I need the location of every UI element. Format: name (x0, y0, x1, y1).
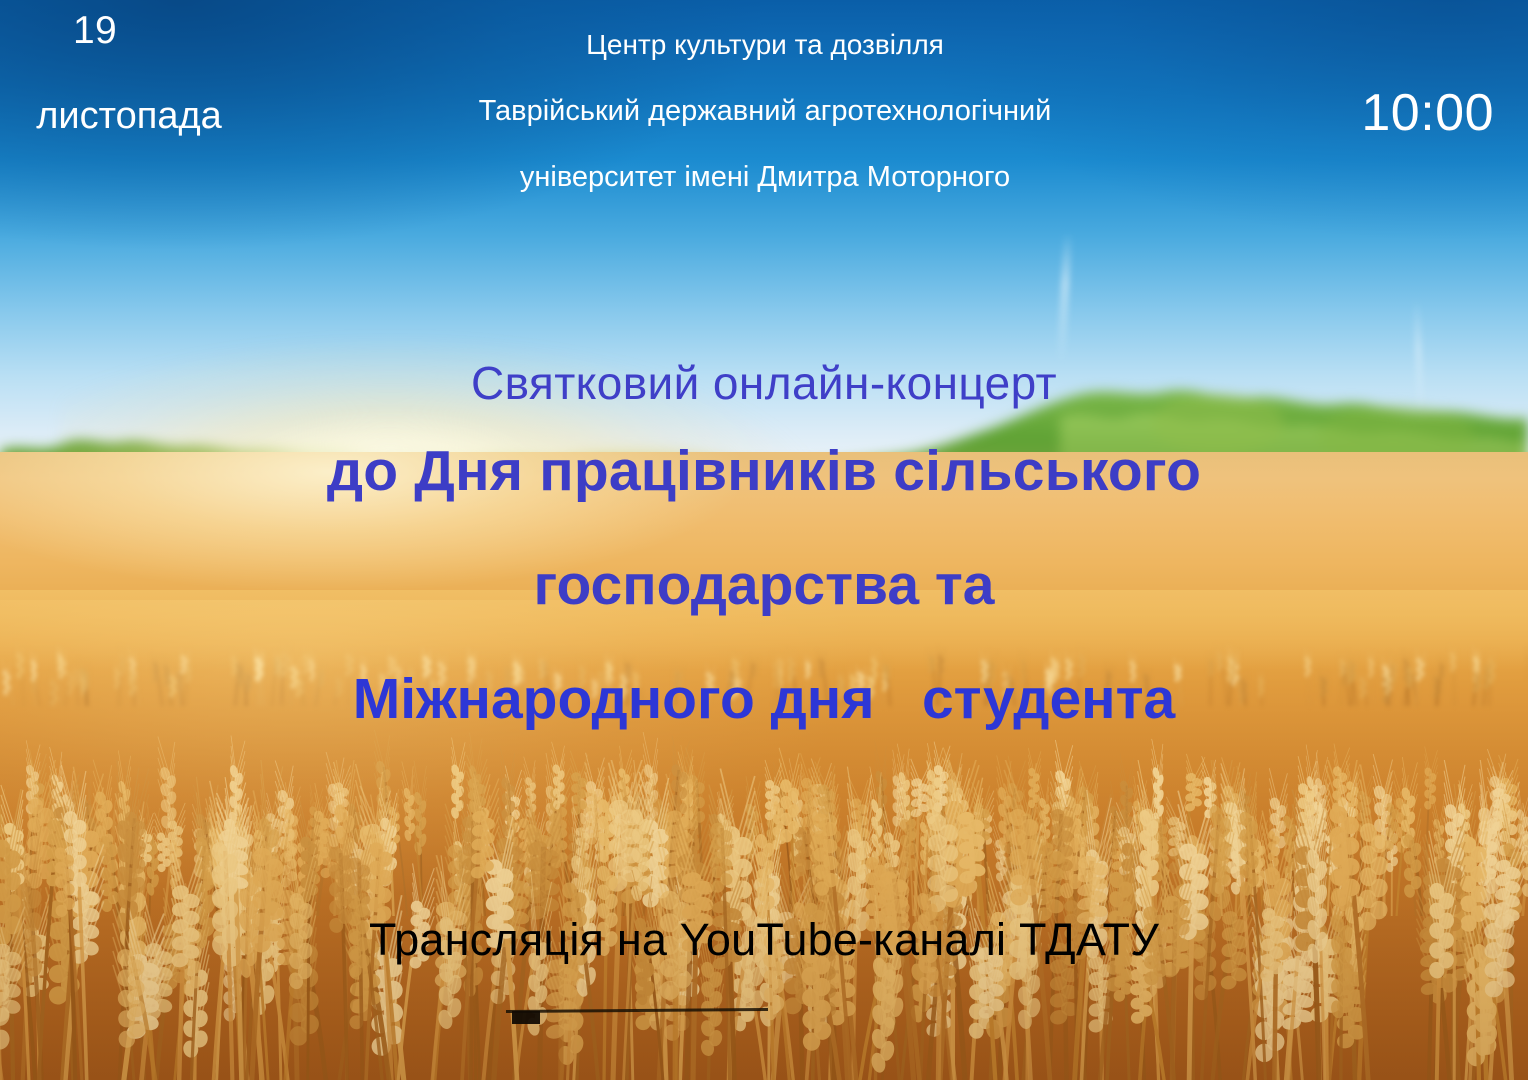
event-title-line-2: до Дня працівників сільського (0, 414, 1528, 528)
broadcast-underline-marker (512, 1011, 540, 1024)
organization-block: Центр культури та дозвілля Таврійський д… (340, 12, 1190, 210)
event-title-line-3: господарства та (0, 528, 1528, 642)
event-date-day: 19 (0, 8, 190, 54)
event-title-line-1: Святковий онлайн-концерт (0, 352, 1528, 414)
event-title-block: Святковий онлайн-концерт до Дня працівни… (0, 352, 1528, 756)
broadcast-notice: Трансляція на YouTube-каналі ТДАТУ (0, 912, 1528, 968)
event-poster: 19 листопада 10:00 Центр культури та доз… (0, 0, 1528, 1080)
event-title-line-4: Міжнародного дня студента (0, 642, 1528, 756)
organization-line-2: Таврійський державний агротехнологічний (340, 78, 1190, 144)
event-date-month: листопада (0, 93, 258, 139)
organization-line-3: університет імені Дмитра Моторного (340, 144, 1190, 210)
organization-line-1: Центр культури та дозвілля (340, 12, 1190, 78)
event-time: 10:00 (1361, 83, 1494, 143)
